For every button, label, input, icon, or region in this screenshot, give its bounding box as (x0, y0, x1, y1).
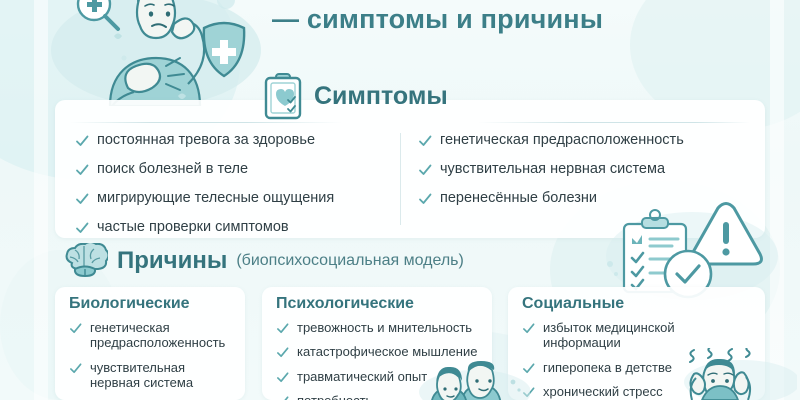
list-item-label: катастрофическое мышление (297, 344, 477, 359)
check-icon (75, 163, 89, 177)
symptoms-left-list: постоянная тревога за здоровье поиск бол… (75, 132, 395, 248)
column-list: тревожность и мнительность катастрофичес… (262, 320, 492, 400)
list-item-label: чувствительная нервная система (90, 360, 237, 391)
causes-column-social: Социальные избыток медицинской информаци… (508, 287, 765, 400)
symptoms-column-divider (400, 133, 401, 225)
list-item-label: частые проверки симптомов (97, 219, 289, 236)
column-title: Биологические (55, 287, 245, 320)
check-icon (418, 134, 432, 148)
list-item-label: избыток медицинской информации (543, 320, 703, 351)
column-title: Психологические (262, 287, 492, 320)
list-item-label: генетическая предрасположенность (440, 132, 684, 149)
list-item-label: генетическая предрасположенность (90, 320, 237, 351)
check-icon (276, 322, 289, 335)
page-title: — симптомы и причины (272, 4, 603, 35)
list-item-label: травматический опыт (297, 369, 427, 384)
background-stripe (34, 0, 48, 400)
check-icon (69, 362, 82, 375)
list-item: поиск болезней в теле (75, 161, 395, 178)
causes-column-psychological: Психологические тревожность и мнительнос… (262, 287, 492, 400)
list-item-label: хронический стресс (543, 384, 663, 399)
check-icon (418, 163, 432, 177)
list-item: чувствительная нервная система (69, 360, 237, 391)
list-item-label: тревожность и мнительность (297, 320, 472, 335)
list-item: избыток медицинской информации (522, 320, 757, 351)
list-item: хронический стресс (522, 384, 757, 399)
check-icon (522, 362, 535, 375)
symptoms-heading: Симптомы (262, 72, 448, 120)
check-icon (75, 192, 89, 206)
causes-column-biological: Биологические генетическая предрасположе… (55, 287, 245, 400)
causes-heading-subtitle: (биопсихосоциальная модель) (236, 252, 464, 270)
list-item-label: мигрирующие телесные ощущения (97, 190, 334, 207)
list-item-label: поиск болезней в теле (97, 161, 248, 178)
list-item: травматический опыт (276, 369, 484, 384)
check-icon (418, 192, 432, 206)
list-item: потребность (276, 393, 484, 400)
brain-icon (62, 243, 108, 279)
list-item: генетическая предрасположенность (418, 132, 748, 149)
column-list: избыток медицинской информации гиперопек… (508, 320, 765, 399)
check-icon (276, 346, 289, 359)
list-item: постоянная тревога за здоровье (75, 132, 395, 149)
check-icon (75, 221, 89, 235)
list-item: генетическая предрасположенность (69, 320, 237, 351)
list-item-label: чувствительная нервная система (440, 161, 665, 178)
anxious-man-with-shield-illustration (48, 0, 268, 106)
list-item: перенесённые болезни (418, 190, 748, 207)
symptoms-heading-label: Симптомы (314, 82, 448, 111)
column-list: генетическая предрасположенность чувстви… (55, 320, 245, 390)
list-item: частые проверки симптомов (75, 219, 395, 236)
infographic-canvas: — симптомы и причины Симптомы постоянная… (0, 0, 800, 400)
column-title: Социальные (508, 287, 765, 320)
check-icon (69, 322, 82, 335)
list-item: гиперопека в детстве (522, 360, 757, 375)
list-item-label: гиперопека в детстве (543, 360, 672, 375)
check-icon (75, 134, 89, 148)
list-item-label: потребность (297, 393, 372, 400)
check-icon (522, 386, 535, 399)
causes-heading-label: Причины (117, 247, 227, 275)
symptoms-right-list: генетическая предрасположенность чувстви… (418, 132, 748, 219)
list-item-label: перенесённые болезни (440, 190, 597, 207)
list-item: мигрирующие телесные ощущения (75, 190, 395, 207)
background-stripe (770, 0, 784, 400)
symptoms-divider (70, 122, 750, 123)
check-icon (276, 371, 289, 384)
list-item: чувствительная нервная система (418, 161, 748, 178)
check-icon (522, 322, 535, 335)
list-item: тревожность и мнительность (276, 320, 484, 335)
list-item-label: постоянная тревога за здоровье (97, 132, 315, 149)
causes-heading: Причины (биопсихосоциальная модель) (62, 243, 464, 279)
clipboard-heart-icon (262, 72, 304, 120)
list-item: катастрофическое мышление (276, 344, 484, 359)
check-icon (276, 395, 289, 400)
